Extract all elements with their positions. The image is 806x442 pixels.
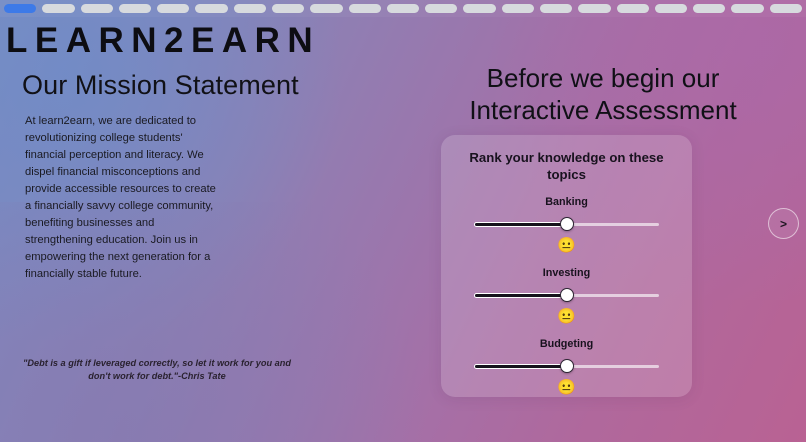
slider-banking[interactable] (474, 217, 659, 231)
topic-label: Investing (441, 267, 692, 279)
left-column: LEARN2EARN Our Mission Statement At lear… (0, 17, 400, 442)
topic-budgeting: Budgeting😐 (441, 338, 692, 396)
progress-segment-17 (617, 4, 649, 13)
progress-bar (0, 0, 806, 17)
progress-segment-9 (310, 4, 342, 13)
slider-investing[interactable] (474, 288, 659, 302)
progress-segment-3 (81, 4, 113, 13)
progress-segment-21 (770, 4, 802, 13)
assessment-card: Rank your knowledge on these topics Bank… (441, 135, 692, 397)
progress-segment-13 (463, 4, 495, 13)
progress-segment-7 (234, 4, 266, 13)
right-column: Before we begin our Interactive Assessme… (400, 17, 806, 442)
progress-segment-4 (119, 4, 151, 13)
assessment-heading-line-2: Interactive Assessment (430, 94, 776, 126)
progress-segment-16 (578, 4, 610, 13)
topic-label: Banking (441, 196, 692, 208)
progress-segment-5 (157, 4, 189, 13)
progress-segment-15 (540, 4, 572, 13)
brand-logo: LEARN2EARN (0, 22, 400, 61)
slider-thumb[interactable] (560, 217, 574, 231)
progress-segment-10 (349, 4, 381, 13)
next-button[interactable]: > (768, 208, 799, 239)
neutral-face-icon: 😐 (441, 379, 692, 396)
slider-thumb[interactable] (560, 359, 574, 373)
assessment-heading-line-1: Before we begin our (430, 62, 776, 94)
slider-fill (474, 293, 567, 298)
slider-fill (474, 364, 567, 369)
chevron-right-icon: > (780, 217, 787, 231)
testimonial-quote: "Debt is a gift if leveraged correctly, … (12, 357, 302, 383)
neutral-face-icon: 😐 (441, 237, 692, 254)
progress-segment-1 (4, 4, 36, 13)
neutral-face-icon: 😐 (441, 308, 692, 325)
topic-investing: Investing😐 (441, 267, 692, 325)
assessment-card-title: Rank your knowledge on these topics (461, 150, 672, 183)
topic-slider-list: Banking😐Investing😐Budgeting😐 (441, 196, 692, 396)
page-root: LEARN2EARN Our Mission Statement At lear… (0, 0, 806, 442)
progress-segment-18 (655, 4, 687, 13)
topic-label: Budgeting (441, 338, 692, 350)
slider-thumb[interactable] (560, 288, 574, 302)
slider-budgeting[interactable] (474, 359, 659, 373)
progress-segment-12 (425, 4, 457, 13)
progress-segment-6 (195, 4, 227, 13)
progress-segment-11 (387, 4, 419, 13)
assessment-heading: Before we begin our Interactive Assessme… (430, 62, 776, 126)
progress-segment-2 (42, 4, 74, 13)
page-title: Our Mission Statement (0, 70, 400, 101)
slider-fill (474, 222, 567, 227)
topic-banking: Banking😐 (441, 196, 692, 254)
progress-segment-8 (272, 4, 304, 13)
progress-segment-20 (731, 4, 763, 13)
mission-statement-text: At learn2earn, we are dedicated to revol… (0, 113, 218, 283)
progress-segment-14 (502, 4, 534, 13)
progress-segment-19 (693, 4, 725, 13)
